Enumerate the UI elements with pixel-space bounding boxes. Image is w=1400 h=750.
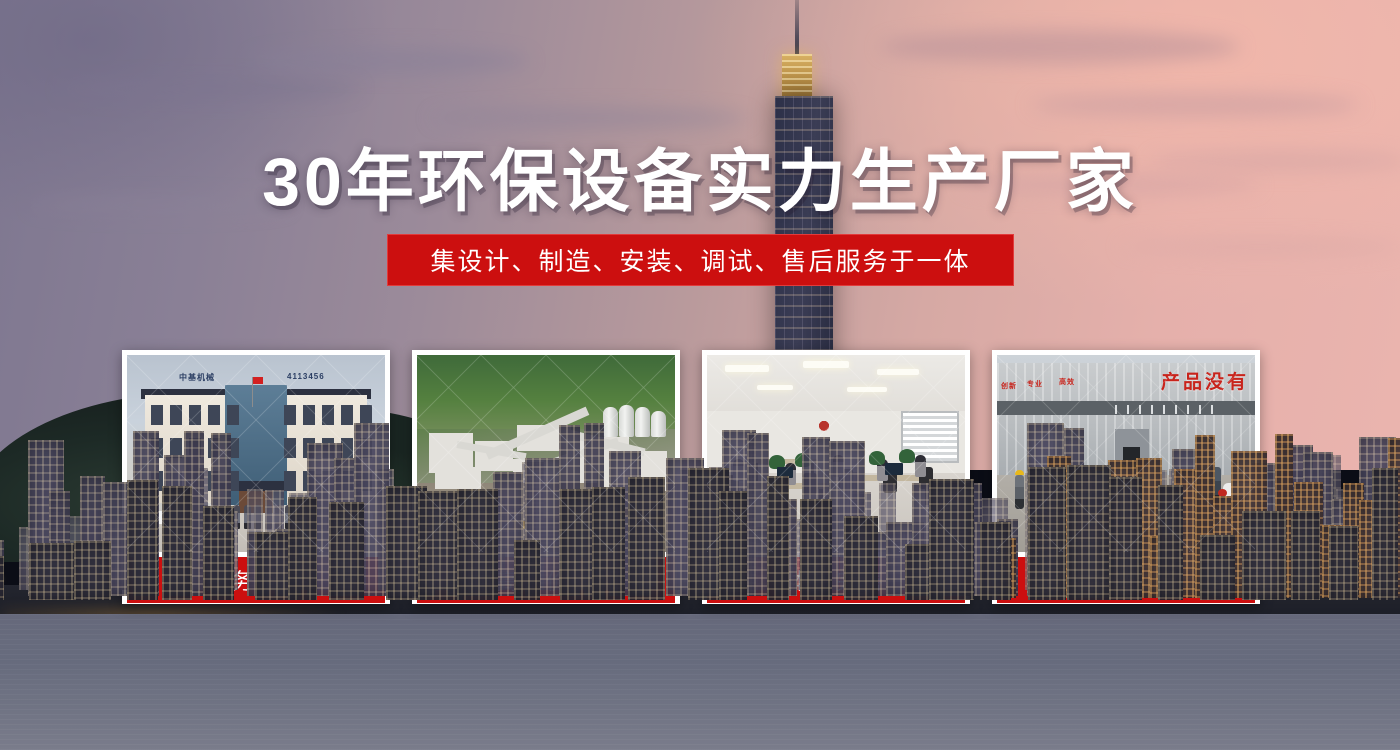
skyline-building [980, 522, 1010, 600]
skyline-building [592, 487, 624, 600]
skyline-building [1109, 477, 1142, 600]
skyline-building [29, 543, 75, 600]
ceiling-light [847, 387, 887, 392]
potted-plant [899, 449, 915, 463]
skyline-building [1242, 511, 1286, 600]
skyline-building [418, 491, 463, 600]
skyline-building [719, 491, 747, 600]
factory-slogan-mid: 专业 [1027, 379, 1043, 389]
skyline-building [628, 477, 664, 600]
seated-employee [915, 455, 926, 477]
building-window [303, 405, 315, 425]
ceiling-light [803, 361, 849, 368]
storage-silo [651, 411, 666, 437]
skyline-building [929, 479, 974, 600]
factory-slogan-left: 创新 [1001, 381, 1017, 391]
roof-railing [1151, 405, 1153, 414]
building-window [284, 438, 296, 458]
ceiling-light [757, 385, 793, 390]
worker [1015, 475, 1024, 509]
roof-railing [1127, 405, 1129, 414]
storage-silo [635, 407, 650, 437]
building-window [151, 405, 163, 425]
zifeng-tower-spire [795, 0, 799, 56]
skyline-building [162, 486, 192, 600]
roof-railing [1211, 405, 1213, 414]
skyline-building [1067, 465, 1112, 600]
skyline-building [127, 480, 158, 600]
roof-railing [1175, 405, 1177, 414]
roof-railing [1163, 405, 1165, 414]
skyline-building [767, 476, 789, 600]
skyline-building [800, 499, 832, 600]
skyline-building [514, 540, 540, 600]
building-window [360, 405, 372, 425]
storage-silo [619, 405, 634, 437]
skyline-building [1200, 535, 1235, 600]
wall-emblem-icon [811, 417, 837, 439]
building-sign-phone: 4113456 [287, 372, 325, 381]
skyline-building [0, 556, 4, 600]
plant-structure [435, 467, 481, 489]
storage-silo [603, 407, 618, 437]
building-window [284, 471, 296, 491]
skyline-building [457, 489, 497, 600]
skyline-building [74, 541, 111, 600]
building-window [189, 405, 201, 425]
skyline-building [288, 497, 317, 600]
safety-helmet-icon [1015, 470, 1024, 475]
factory-banner-text: 产品没有 [1161, 367, 1249, 394]
river-sheen [0, 614, 1400, 750]
computer-monitor [885, 463, 903, 475]
hero-banner: 30年环保设备实力生产厂家 集设计、制造、安装、调试、售后服务于一体 中基机械 … [0, 0, 1400, 750]
building-window [208, 405, 220, 425]
building-window [227, 405, 239, 425]
building-window [341, 405, 353, 425]
skyline-building [844, 516, 878, 600]
skyline-building [1372, 468, 1398, 600]
roof-railing [1199, 405, 1201, 414]
factory-slogan-right: 高效 [1059, 377, 1075, 387]
roof-railing [1115, 405, 1117, 414]
skyline-building [1158, 485, 1183, 600]
subtitle-text: 集设计、制造、安装、调试、售后服务于一体 [430, 242, 970, 278]
subtitle-banner: 集设计、制造、安装、调试、售后服务于一体 [387, 234, 1014, 286]
potted-plant [869, 451, 885, 465]
skyline-building [203, 506, 234, 600]
skyline-building [1028, 467, 1066, 600]
roof-railing [1139, 405, 1141, 414]
ceiling-light [725, 365, 769, 372]
skyline-building [1291, 511, 1320, 600]
skyline-building [329, 502, 364, 600]
roof-railing [1187, 405, 1189, 414]
skyline-building [1329, 526, 1358, 600]
page-title: 30年环保设备实力生产厂家 [0, 126, 1400, 225]
building-window [322, 405, 334, 425]
building-window [284, 405, 296, 425]
building-window [170, 405, 182, 425]
ceiling-light [877, 369, 919, 375]
building-sign-logo: 中基机械 [179, 372, 215, 383]
city-skyline [0, 0, 1400, 640]
